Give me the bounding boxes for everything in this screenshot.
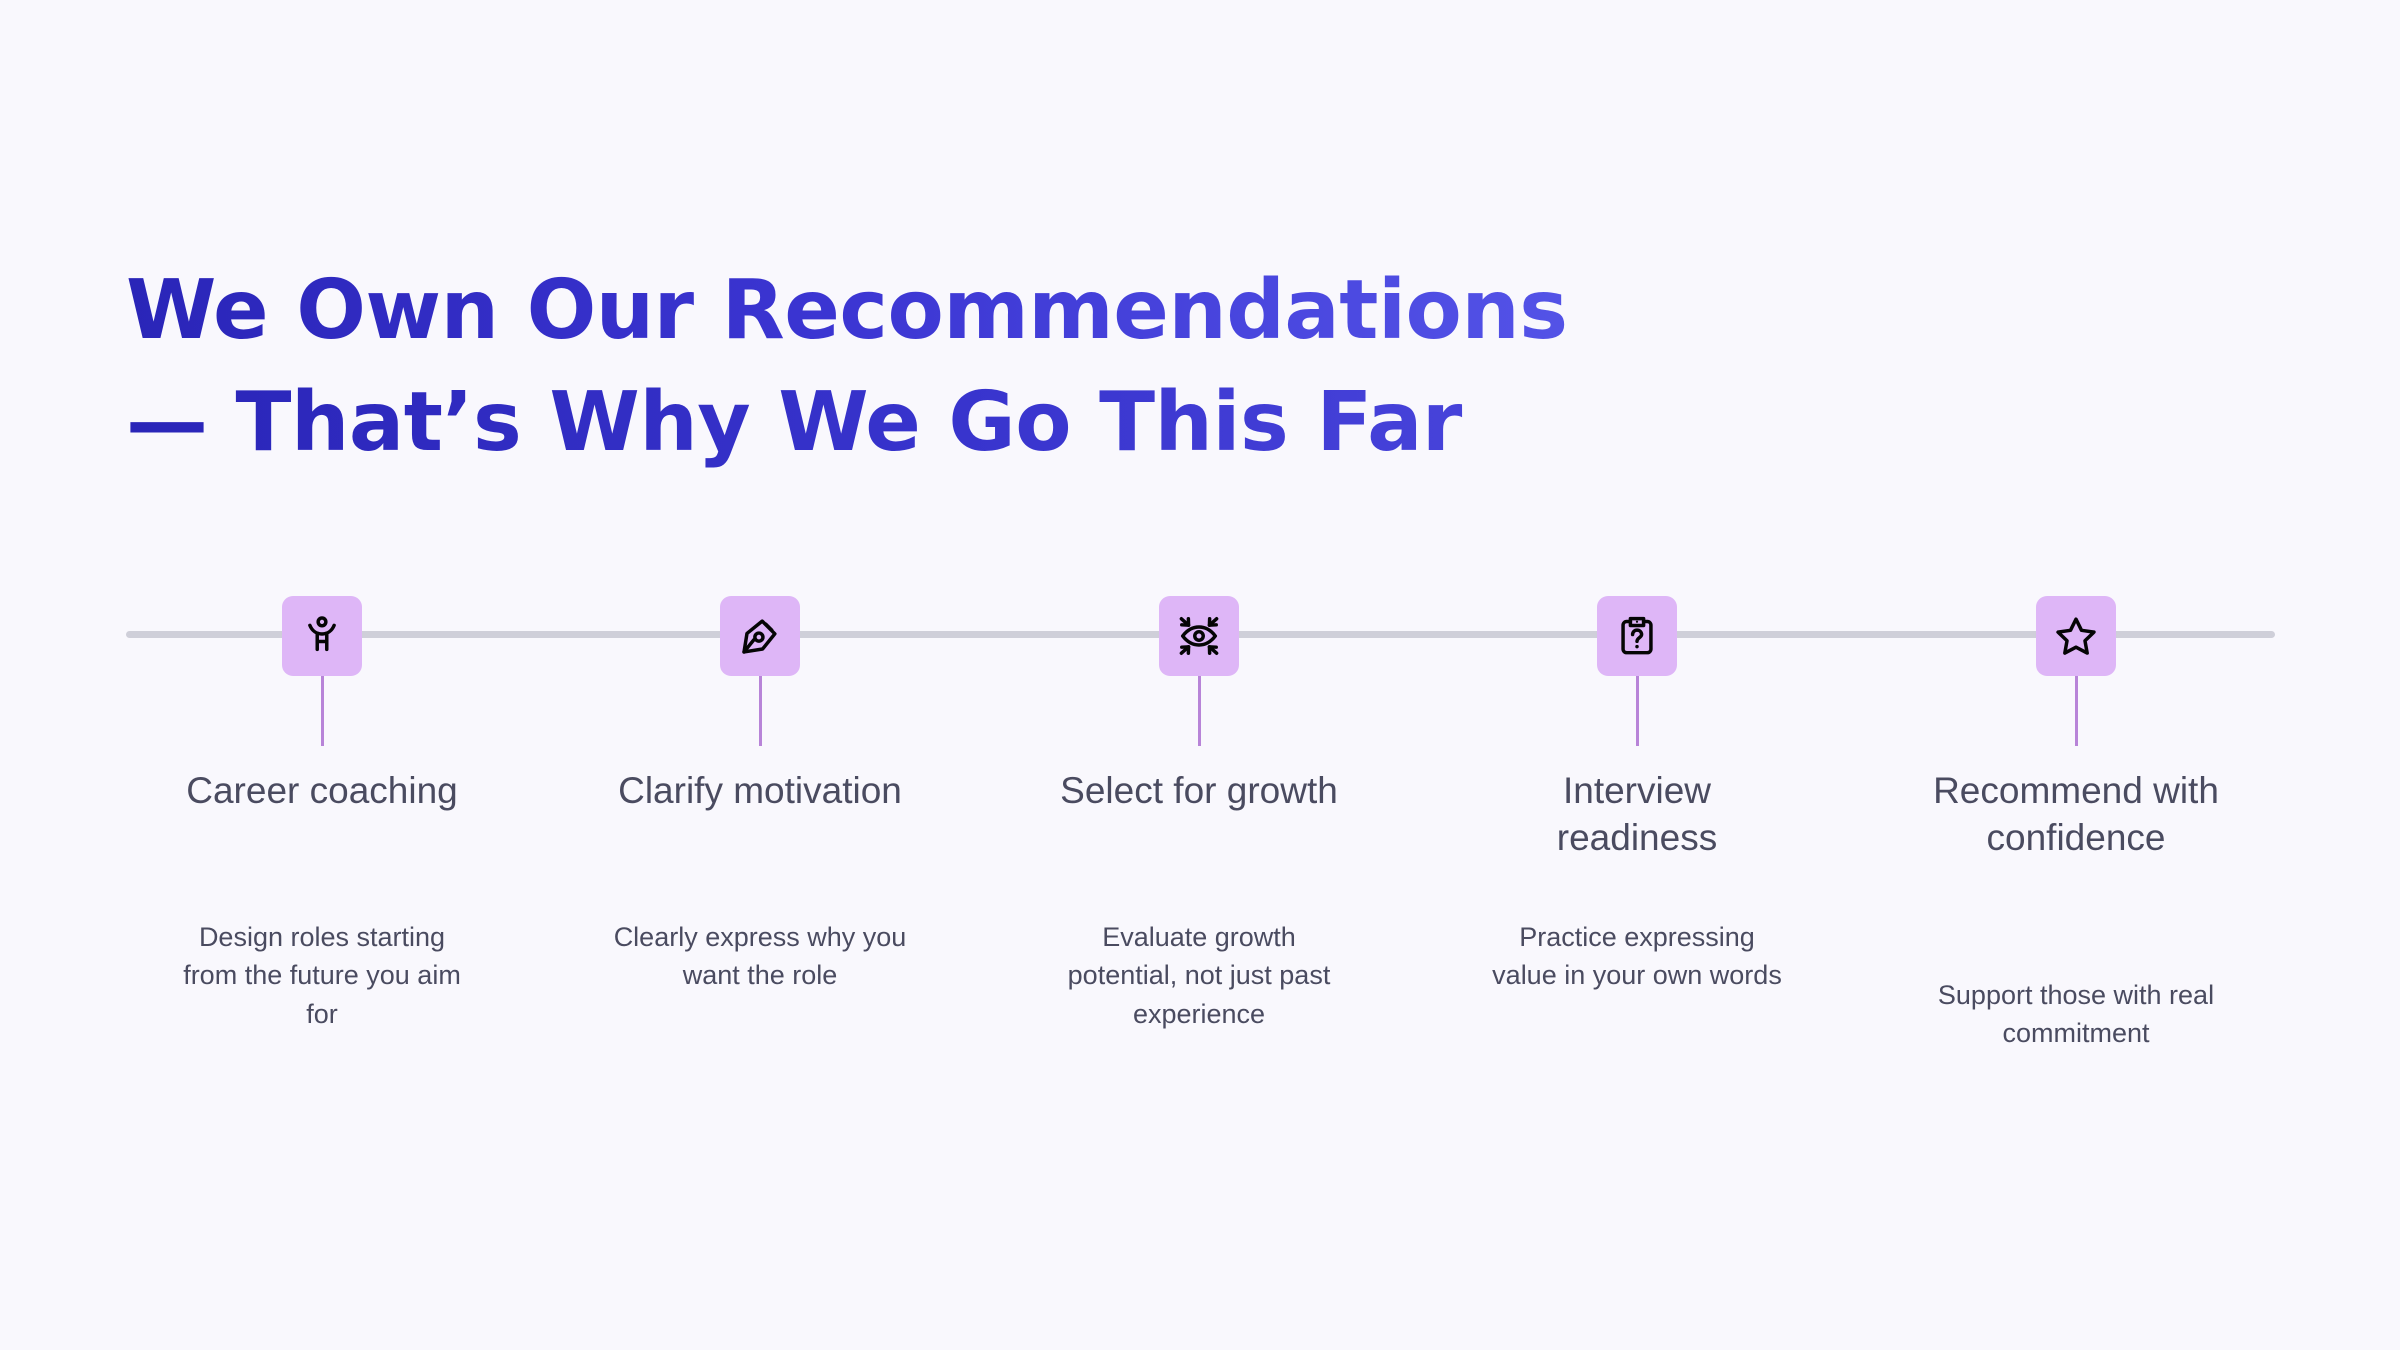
- milestone-description: Design roles starting from the future yo…: [172, 918, 472, 1033]
- milestone-description: Support those with real commitment: [1926, 976, 2226, 1053]
- milestone-title: Clarify motivation: [610, 768, 910, 815]
- star-outline-icon: [2036, 596, 2116, 676]
- milestone-title: Select for growth: [1049, 768, 1349, 815]
- milestone-title: Career coaching: [172, 768, 472, 815]
- milestone-description: Clearly express why you want the role: [610, 918, 910, 995]
- milestone-stem: [759, 676, 762, 746]
- clipboard-question-icon: [1597, 596, 1677, 676]
- person-raised-arms-icon: [282, 596, 362, 676]
- milestone-stem: [1198, 676, 1201, 746]
- milestone-description: Practice expressing value in your own wo…: [1487, 918, 1787, 995]
- timeline: Career coaching Design roles starting fr…: [0, 0, 2400, 1350]
- milestone-description: Evaluate growth potential, not just past…: [1049, 918, 1349, 1033]
- milestone-stem: [321, 676, 324, 746]
- milestone-stem: [1636, 676, 1639, 746]
- pen-nib-icon: [720, 596, 800, 676]
- milestone-title: Interview readiness: [1487, 768, 1787, 861]
- eye-focus-arrows-icon: [1159, 596, 1239, 676]
- milestone-title: Recommend with confidence: [1926, 768, 2226, 861]
- milestone-stem: [2075, 676, 2078, 746]
